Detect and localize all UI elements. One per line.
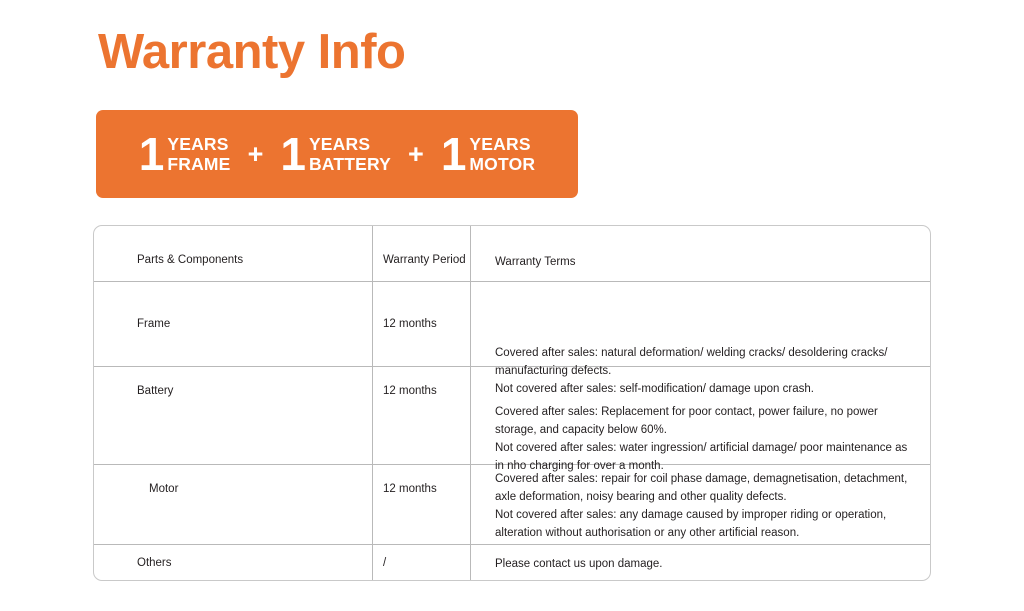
- table-cell-terms-frame: Covered after sales: natural deformation…: [471, 282, 930, 366]
- table-header-label-parts: Parts & Components: [137, 252, 243, 269]
- period-label-frame: 12 months: [383, 316, 437, 333]
- part-label-others: Others: [137, 555, 172, 572]
- table-row: Motor 12 months Covered after sales: rep…: [94, 465, 930, 545]
- page-title: Warranty Info: [98, 24, 405, 80]
- period-label-battery: 12 months: [383, 383, 437, 400]
- banner-unit-frame: YEARS: [167, 134, 230, 154]
- table-row: Others / Please contact us upon damage.: [94, 545, 930, 580]
- table-cell-part-frame: Frame: [94, 282, 373, 366]
- table-row: Battery 12 months Covered after sales: R…: [94, 367, 930, 465]
- warranty-summary-banner: 1 YEARS FRAME + 1 YEARS BATTERY + 1 YEAR…: [96, 110, 578, 198]
- table-row: Frame 12 months Covered after sales: nat…: [94, 282, 930, 367]
- table-cell-period-motor: 12 months: [373, 465, 471, 544]
- banner-label-stack-battery: YEARS BATTERY: [309, 134, 391, 175]
- table-cell-period-frame: 12 months: [373, 282, 471, 366]
- banner-label-stack-frame: YEARS FRAME: [167, 134, 230, 175]
- table-header-cell-parts: Parts & Components: [94, 226, 373, 281]
- table-cell-terms-motor: Covered after sales: repair for coil pha…: [471, 465, 930, 544]
- terms-text-others: Please contact us upon damage.: [495, 555, 916, 573]
- table-cell-period-others: /: [373, 545, 471, 580]
- part-label-battery: Battery: [137, 383, 173, 400]
- warranty-banner-item-battery: 1 YEARS BATTERY: [280, 133, 391, 175]
- banner-unit-battery: YEARS: [309, 134, 391, 154]
- table-cell-terms-battery: Covered after sales: Replacement for poo…: [471, 367, 930, 464]
- table-header-label-terms: Warranty Terms: [495, 256, 576, 268]
- table-header-cell-terms: Warranty Terms: [471, 226, 930, 281]
- warranty-banner-item-motor: 1 YEARS MOTOR: [441, 133, 535, 175]
- banner-part-frame: FRAME: [167, 154, 230, 174]
- table-cell-terms-others: Please contact us upon damage.: [471, 545, 930, 580]
- table-cell-part-battery: Battery: [94, 367, 373, 464]
- warranty-table: Parts & Components Warranty Period Warra…: [93, 225, 931, 581]
- warranty-banner-item-frame: 1 YEARS FRAME: [139, 133, 231, 175]
- table-cell-period-battery: 12 months: [373, 367, 471, 464]
- banner-part-motor: MOTOR: [469, 154, 535, 174]
- banner-unit-motor: YEARS: [469, 134, 535, 154]
- period-label-motor: 12 months: [383, 481, 437, 498]
- part-label-motor: Motor: [149, 481, 178, 498]
- part-label-frame: Frame: [137, 316, 170, 333]
- table-header-label-period: Warranty Period: [383, 252, 466, 269]
- banner-plus-icon-1: +: [248, 141, 264, 168]
- banner-label-stack-motor: YEARS MOTOR: [469, 134, 535, 175]
- table-cell-part-others: Others: [94, 545, 373, 580]
- period-label-others: /: [383, 555, 386, 572]
- table-header-row: Parts & Components Warranty Period Warra…: [94, 226, 930, 282]
- banner-years-number-motor: 1: [441, 133, 466, 175]
- banner-years-number-frame: 1: [139, 133, 164, 175]
- banner-part-battery: BATTERY: [309, 154, 391, 174]
- table-cell-part-motor: Motor: [94, 465, 373, 544]
- terms-text-motor: Covered after sales: repair for coil pha…: [495, 470, 916, 542]
- banner-years-number-battery: 1: [280, 133, 305, 175]
- table-header-cell-period: Warranty Period: [373, 226, 471, 281]
- banner-plus-icon-2: +: [408, 141, 424, 168]
